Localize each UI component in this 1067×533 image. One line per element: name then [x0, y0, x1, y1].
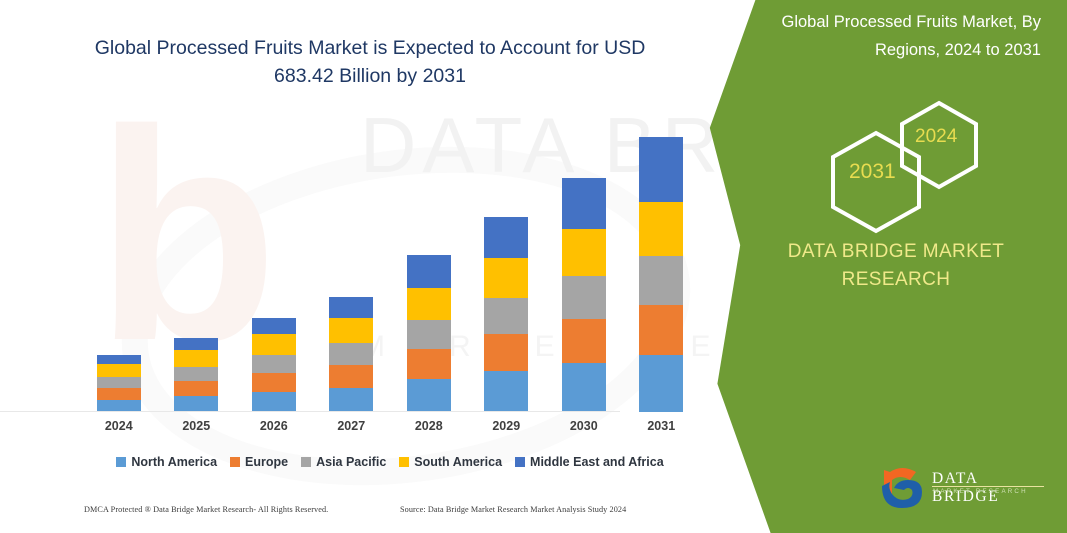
bar-segment[interactable] [329, 388, 373, 412]
legend-swatch-icon [116, 457, 126, 467]
legend-label: South America [414, 455, 502, 469]
legend-swatch-icon [301, 457, 311, 467]
bar-segment[interactable] [639, 305, 683, 355]
bar-segment[interactable] [407, 379, 451, 412]
bar-segment[interactable] [484, 334, 528, 371]
bar-segment[interactable] [639, 355, 683, 412]
bar-segment[interactable] [97, 364, 141, 377]
bar-segment[interactable] [562, 229, 606, 276]
bar-segment[interactable] [97, 355, 141, 364]
x-axis-tick-2025: 2025 [174, 419, 218, 443]
bar-segment[interactable] [639, 202, 683, 256]
legend-item[interactable]: Europe [230, 455, 288, 469]
bar-segment[interactable] [174, 338, 218, 350]
data-bridge-logo: DATA BRIDGE MARKET RESEARCH [880, 466, 1050, 512]
legend-swatch-icon [515, 457, 525, 467]
footer-copyright: DMCA Protected ® Data Bridge Market Rese… [84, 505, 328, 514]
legend-label: Middle East and Africa [530, 455, 664, 469]
infographic-canvas: b DATA BRIDGE MARKET RESEARCH Global Pro… [0, 0, 1067, 533]
bar-segment[interactable] [97, 377, 141, 388]
bar-2024[interactable] [97, 355, 141, 412]
bar-2029[interactable] [484, 217, 528, 412]
x-axis-tick-2027: 2027 [329, 419, 373, 443]
bar-segment[interactable] [329, 343, 373, 365]
stacked-bar-group [80, 112, 700, 412]
bar-2028[interactable] [407, 255, 451, 412]
bar-segment[interactable] [252, 334, 296, 355]
chart-plot-area [80, 110, 700, 412]
bar-segment[interactable] [252, 373, 296, 392]
bar-segment[interactable] [329, 318, 373, 343]
bar-segment[interactable] [329, 365, 373, 388]
footer-source: Source: Data Bridge Market Research Mark… [400, 505, 626, 514]
bar-segment[interactable] [252, 355, 296, 373]
bar-segment[interactable] [174, 367, 218, 381]
bar-segment[interactable] [562, 319, 606, 363]
bar-segment[interactable] [484, 217, 528, 258]
bar-segment[interactable] [407, 255, 451, 288]
legend-item[interactable]: Middle East and Africa [515, 455, 664, 469]
legend-label: Asia Pacific [316, 455, 386, 469]
bar-segment[interactable] [174, 396, 218, 412]
chart-legend: North AmericaEuropeAsia PacificSouth Ame… [80, 455, 700, 469]
bar-segment[interactable] [484, 371, 528, 412]
logo-tagline: MARKET RESEARCH [933, 488, 1028, 495]
panel-heading: Global Processed Fruits Market, By Regio… [741, 8, 1041, 64]
bar-segment[interactable] [639, 137, 683, 202]
bar-segment[interactable] [484, 298, 528, 334]
page-title: Global Processed Fruits Market is Expect… [70, 34, 670, 90]
bar-segment[interactable] [174, 350, 218, 367]
x-axis-tick-2030: 2030 [562, 419, 606, 443]
logo-divider [932, 486, 1044, 487]
bar-segment[interactable] [562, 276, 606, 319]
bar-segment[interactable] [407, 349, 451, 379]
bar-segment[interactable] [407, 320, 451, 349]
bar-segment[interactable] [252, 318, 296, 334]
x-axis-tick-2031: 2031 [639, 419, 683, 443]
bar-segment[interactable] [562, 363, 606, 412]
bar-2030[interactable] [562, 178, 606, 412]
legend-swatch-icon [230, 457, 240, 467]
x-axis-line [0, 411, 620, 412]
x-axis-tick-2028: 2028 [407, 419, 451, 443]
logo-mark-icon [880, 466, 930, 510]
legend-label: Europe [245, 455, 288, 469]
bar-segment[interactable] [562, 178, 606, 229]
x-axis-labels: 20242025202620272028202920302031 [80, 419, 700, 443]
x-axis-tick-2026: 2026 [252, 419, 296, 443]
bar-segment[interactable] [252, 392, 296, 412]
brand-name: DATA BRIDGE MARKET RESEARCH [751, 238, 1041, 294]
bar-segment[interactable] [97, 388, 141, 400]
bar-segment[interactable] [174, 381, 218, 396]
x-axis-tick-2029: 2029 [484, 419, 528, 443]
legend-label: North America [131, 455, 217, 469]
bar-2031[interactable] [639, 137, 683, 412]
bar-segment[interactable] [407, 288, 451, 320]
bar-2025[interactable] [174, 338, 218, 412]
bar-segment[interactable] [484, 258, 528, 298]
legend-swatch-icon [399, 457, 409, 467]
bar-2027[interactable] [329, 297, 373, 412]
footer: DMCA Protected ® Data Bridge Market Rese… [0, 505, 720, 529]
bar-segment[interactable] [329, 297, 373, 318]
x-axis-tick-2024: 2024 [97, 419, 141, 443]
hexagon-2031-label: 2031 [849, 160, 896, 184]
bar-segment[interactable] [639, 256, 683, 305]
bar-2026[interactable] [252, 318, 296, 412]
legend-item[interactable]: South America [399, 455, 502, 469]
legend-item[interactable]: North America [116, 455, 217, 469]
legend-item[interactable]: Asia Pacific [301, 455, 386, 469]
